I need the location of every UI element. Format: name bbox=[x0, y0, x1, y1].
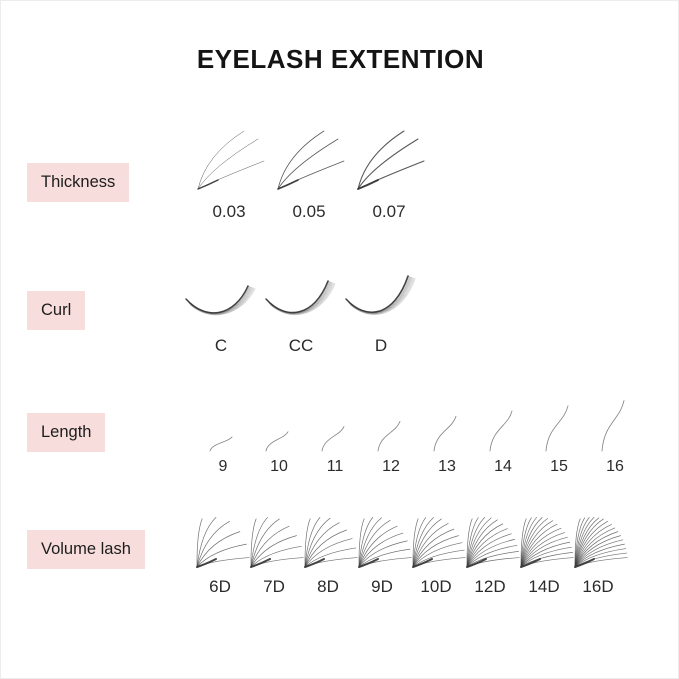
lash-volume-fan-icon bbox=[462, 504, 518, 574]
lash-volume-fan-icon bbox=[300, 504, 356, 574]
lash-volume-fan-icon bbox=[354, 504, 410, 574]
lash-curl-icon bbox=[262, 273, 340, 331]
row-curl: Curl CCCD bbox=[1, 273, 679, 358]
sample-thickness-0.03: 0.03 bbox=[189, 129, 269, 220]
sample-volume-6d: 6D bbox=[193, 504, 247, 595]
sample-thickness-0.07: 0.07 bbox=[349, 129, 429, 220]
lash-single-curve-icon bbox=[374, 389, 408, 455]
category-label-curl: Curl bbox=[27, 291, 85, 330]
row-length: Length 910111213141516 bbox=[1, 389, 679, 481]
lash-volume-fan-icon bbox=[408, 504, 464, 574]
sample-curl-d: D bbox=[341, 273, 421, 354]
sample-caption: 7D bbox=[263, 578, 285, 595]
row-volume: Volume lash 6D7D8D9D10D12D14D16D bbox=[1, 504, 679, 604]
lash-fan-3-strand-icon bbox=[192, 129, 266, 195]
sample-length-11: 11 bbox=[307, 389, 363, 475]
sample-caption: 10D bbox=[420, 578, 451, 595]
sample-caption: 0.03 bbox=[212, 203, 245, 220]
lash-single-curve-icon bbox=[430, 389, 464, 455]
sample-length-14: 14 bbox=[475, 389, 531, 475]
sample-caption: CC bbox=[289, 337, 314, 354]
lash-fan-3-strand-icon bbox=[272, 129, 346, 195]
sample-volume-8d: 8D bbox=[301, 504, 355, 595]
page-title: EYELASH EXTENTION bbox=[1, 44, 679, 75]
sample-caption: 15 bbox=[550, 459, 568, 475]
sample-caption: 9D bbox=[371, 578, 393, 595]
sample-volume-10d: 10D bbox=[409, 504, 463, 595]
sample-strip-curl: CCCD bbox=[181, 273, 421, 354]
lash-single-curve-icon bbox=[262, 389, 296, 455]
category-label-volume-lash: Volume lash bbox=[27, 530, 145, 569]
sample-caption: 9 bbox=[219, 459, 228, 475]
sample-volume-9d: 9D bbox=[355, 504, 409, 595]
sample-strip-thickness: 0.030.050.07 bbox=[189, 129, 429, 220]
lash-volume-fan-icon bbox=[192, 504, 248, 574]
sample-caption: 16 bbox=[606, 459, 624, 475]
sample-caption: 8D bbox=[317, 578, 339, 595]
sample-volume-7d: 7D bbox=[247, 504, 301, 595]
lash-single-curve-icon bbox=[318, 389, 352, 455]
sample-curl-c: C bbox=[181, 273, 261, 354]
sample-caption: C bbox=[215, 337, 227, 354]
lash-single-curve-icon bbox=[598, 389, 632, 455]
row-thickness: Thickness 0.030.050.07 bbox=[1, 129, 679, 239]
sample-curl-cc: CC bbox=[261, 273, 341, 354]
sample-caption: 0.05 bbox=[292, 203, 325, 220]
category-label-thickness: Thickness bbox=[27, 163, 129, 202]
sample-caption: 13 bbox=[438, 459, 456, 475]
lash-curl-icon bbox=[182, 273, 260, 331]
lash-fan-3-strand-icon bbox=[352, 129, 426, 195]
sample-caption: 10 bbox=[270, 459, 288, 475]
sample-caption: 14D bbox=[528, 578, 559, 595]
lash-curl-icon bbox=[342, 273, 420, 331]
sample-caption: 12D bbox=[474, 578, 505, 595]
sample-length-10: 10 bbox=[251, 389, 307, 475]
sample-thickness-0.05: 0.05 bbox=[269, 129, 349, 220]
sample-caption: 12 bbox=[382, 459, 400, 475]
lash-volume-fan-icon bbox=[516, 504, 572, 574]
category-label-length: Length bbox=[27, 413, 105, 452]
sample-strip-volume-lash: 6D7D8D9D10D12D14D16D bbox=[193, 504, 625, 595]
sample-length-15: 15 bbox=[531, 389, 587, 475]
sample-caption: 16D bbox=[582, 578, 613, 595]
lash-single-curve-icon bbox=[542, 389, 576, 455]
sample-caption: 14 bbox=[494, 459, 512, 475]
lash-single-curve-icon bbox=[486, 389, 520, 455]
sample-volume-14d: 14D bbox=[517, 504, 571, 595]
sample-strip-length: 910111213141516 bbox=[195, 389, 643, 475]
eyelash-extension-chart: EYELASH EXTENTION Thickness 0.030.050.07… bbox=[0, 0, 679, 679]
lash-single-curve-icon bbox=[206, 389, 240, 455]
sample-length-13: 13 bbox=[419, 389, 475, 475]
sample-caption: 0.07 bbox=[372, 203, 405, 220]
sample-length-12: 12 bbox=[363, 389, 419, 475]
sample-volume-12d: 12D bbox=[463, 504, 517, 595]
sample-caption: D bbox=[375, 337, 387, 354]
sample-caption: 11 bbox=[327, 459, 344, 475]
sample-length-16: 16 bbox=[587, 389, 643, 475]
lash-volume-fan-icon bbox=[246, 504, 302, 574]
sample-caption: 6D bbox=[209, 578, 231, 595]
sample-length-9: 9 bbox=[195, 389, 251, 475]
sample-volume-16d: 16D bbox=[571, 504, 625, 595]
lash-volume-fan-icon bbox=[570, 504, 626, 574]
